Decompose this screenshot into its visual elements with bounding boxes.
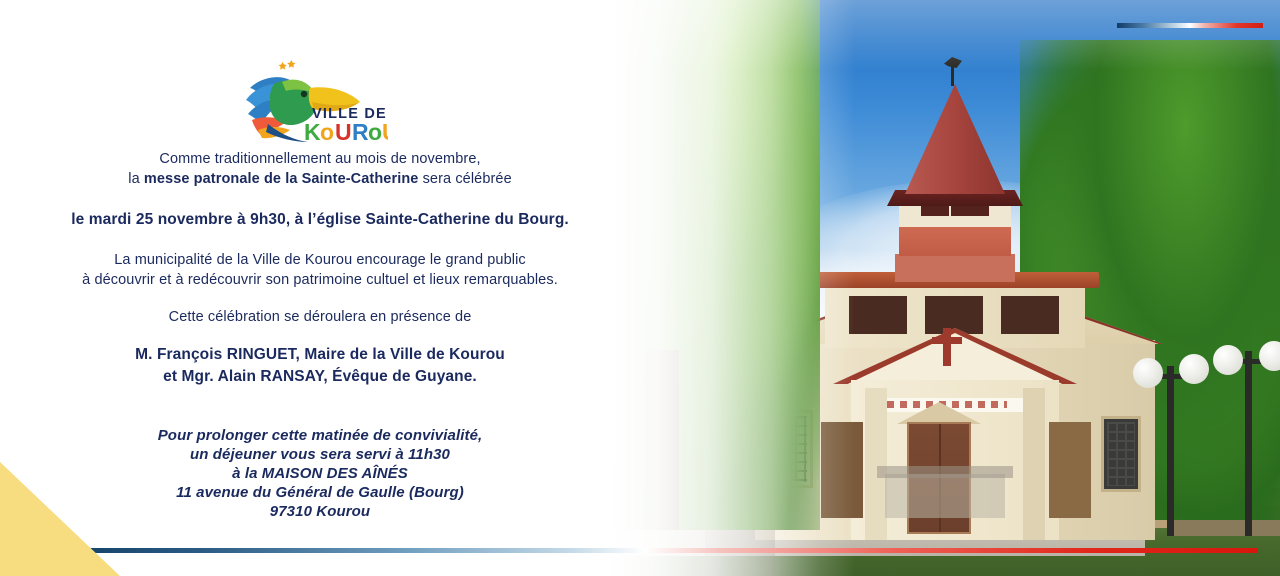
lamp-globe [1213,345,1243,375]
belfry-body [899,200,1011,256]
clerestory-window [849,296,907,334]
background-shed [885,474,1005,518]
top-tricolor-bar [1117,23,1263,28]
entrance-banner [871,398,1039,412]
toucan-icon: VILLE DE K o U R o U [238,58,388,144]
lunch-line-1: Pour prolonger cette matinée de convivia… [0,426,640,445]
invite-line-2: à découvrir et à redécouvrir son patrimo… [0,271,640,291]
lamp-globe [1133,358,1163,388]
red-cross-icon [943,328,951,366]
lunch-block: Pour prolonger cette matinée de convivia… [0,426,640,521]
tower-base [895,254,1015,282]
intro-line-2-bold: messe patronale de la Sainte-Catherine [144,171,419,187]
lunch-line-2: un déjeuner vous sera servi à 11h30 [0,445,640,464]
shed-roof [877,466,1013,478]
svg-text:U: U [382,119,388,144]
porch-column [1023,388,1045,540]
announcement-text: Comme traditionnellement au mois de nove… [0,150,640,521]
clerestory-window [925,296,983,334]
bottom-tricolor-bar [33,548,1258,553]
svg-text:R: R [352,119,369,144]
svg-text:o: o [368,119,382,144]
invite-line-1: La municipalité de la Ville de Kourou en… [0,251,640,271]
presence-intro-line: Cette célébration se déroulera en présen… [0,308,640,328]
street-lamp [1245,351,1252,536]
street-lamp [1167,366,1174,536]
invite-block: La municipalité de la Ville de Kourou en… [0,251,640,290]
official-line-1: M. François RINGUET, Maire de la Ville d… [0,344,640,366]
lunch-line-4: 11 avenue du Général de Gaulle (Bourg) [0,483,640,502]
ville-de-kourou-logo[interactable]: VILLE DE K o U R o U [238,58,388,144]
intro-line-2: la messe patronale de la Sainte-Catherin… [0,170,640,190]
date-line: le mardi 25 novembre à 9h30, à l’église … [0,209,640,231]
intro-line-2-pre: la [128,171,144,187]
porch-column [865,388,887,540]
intro-block: Comme traditionnellement au mois de nove… [0,150,640,189]
grille-window-right [1101,416,1141,492]
logo-line2: K o U R o U [304,119,388,144]
lamp-globe [1179,354,1209,384]
church-photograph [555,0,1280,576]
spire-roof [905,84,1005,194]
clerestory-window [1001,296,1059,334]
svg-text:o: o [320,119,334,144]
lunch-line-3: à la MAISON DES AÎNÉS [0,464,640,483]
official-line-2: et Mgr. Alain RANSAY, Évêque de Guyane. [0,366,640,388]
svg-text:U: U [335,119,352,144]
intro-line-2-post: sera célébrée [418,171,511,187]
church-steeple [887,152,1023,282]
svg-text:K: K [304,119,321,144]
lunch-line-5: 97310 Kourou [0,502,640,521]
intro-line-1: Comme traditionnellement au mois de nove… [0,150,640,170]
porch-side-panel [1049,422,1091,518]
poster-canvas: VILLE DE K o U R o U Comme traditionnell… [0,0,1280,576]
officials-block: M. François RINGUET, Maire de la Ville d… [0,344,640,388]
